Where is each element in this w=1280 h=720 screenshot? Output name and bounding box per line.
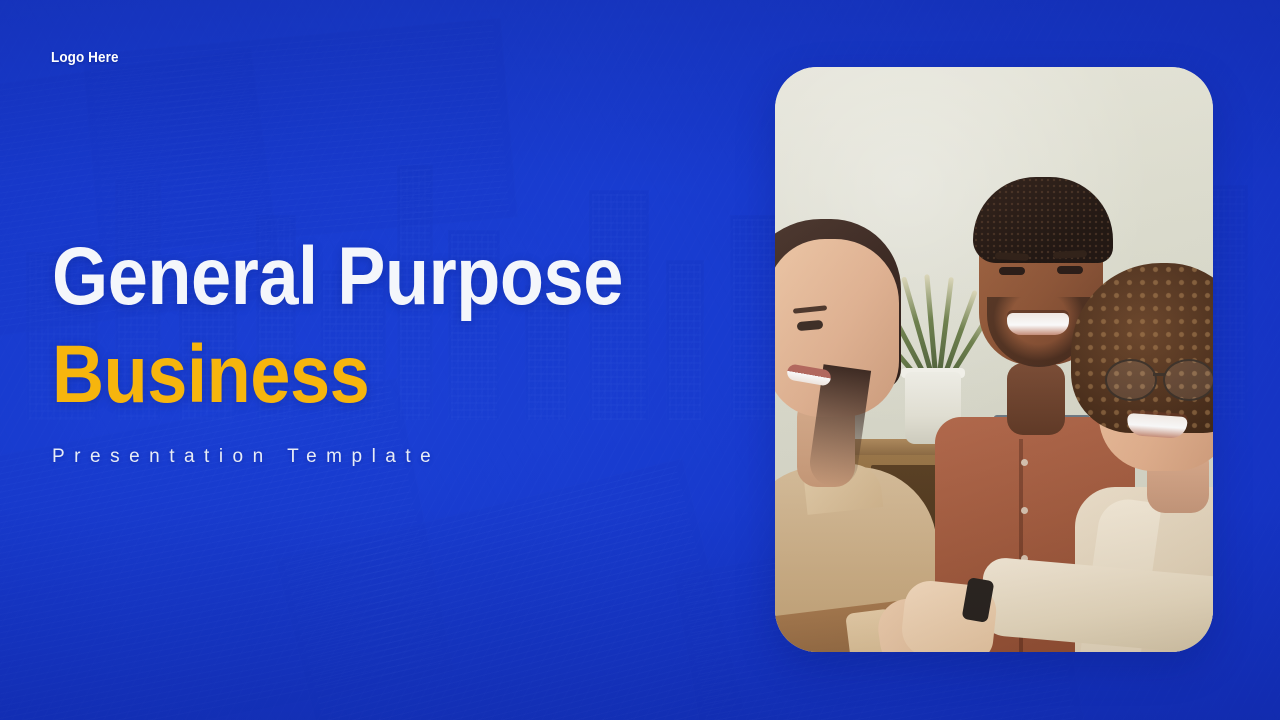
man-shirt-button	[1021, 507, 1028, 514]
potted-plant	[905, 272, 961, 374]
eyeglasses-icon	[1105, 359, 1213, 399]
logo-placeholder[interactable]: Logo Here	[51, 49, 119, 66]
man-shirt-button	[1021, 459, 1028, 466]
title-block: General Purpose Business Presentation Te…	[52, 228, 712, 468]
man-eye-right	[1057, 266, 1083, 274]
title-line-1: General Purpose	[52, 228, 633, 326]
man-smile	[1007, 313, 1069, 335]
man-neck	[1007, 363, 1065, 435]
presentation-slide: Logo Here General Purpose Business Prese…	[0, 0, 1280, 720]
title-line-2: Business	[52, 326, 633, 424]
hero-photo-card	[775, 67, 1213, 652]
subtitle: Presentation Template	[52, 446, 712, 468]
man-eye-left	[999, 267, 1025, 275]
